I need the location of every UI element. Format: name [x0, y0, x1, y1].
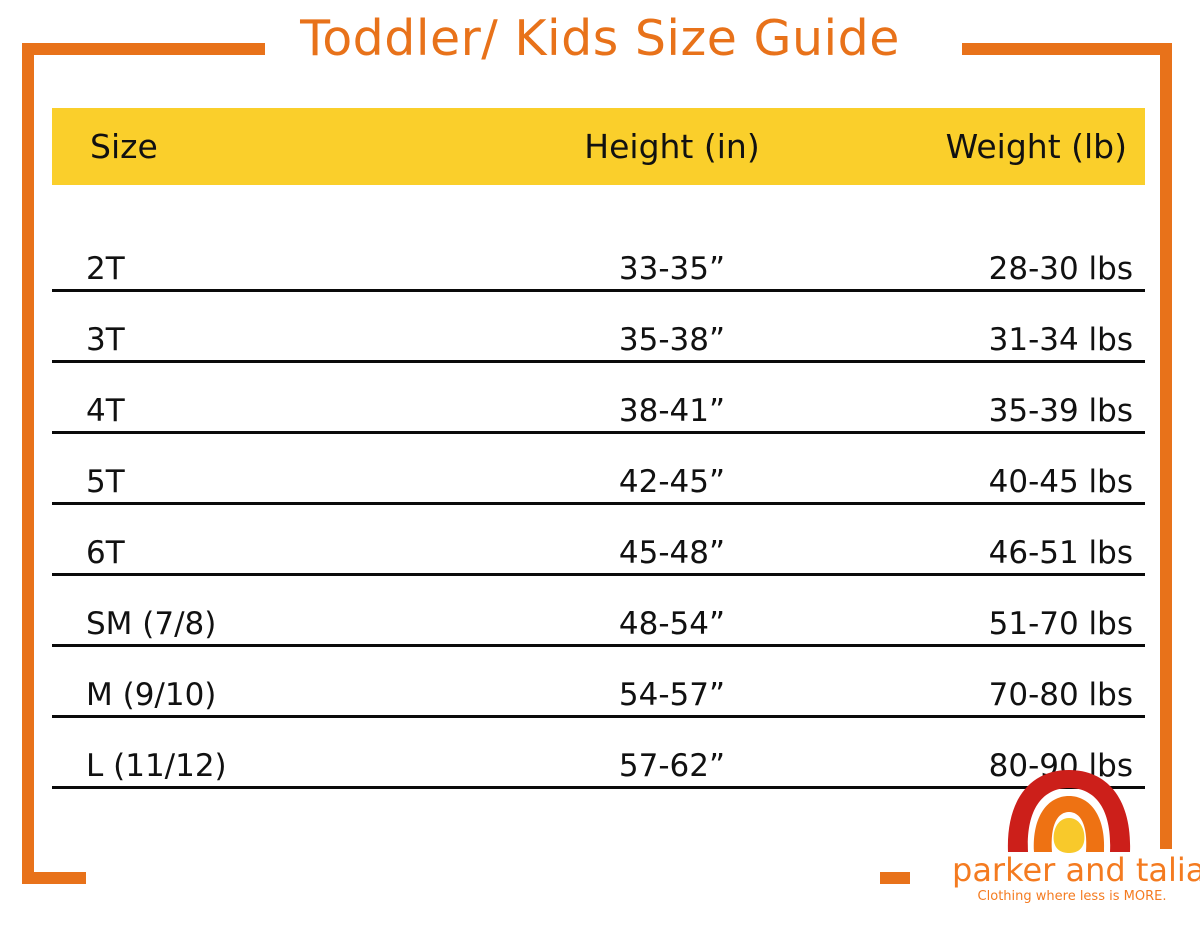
cell-height: 38-41”: [482, 393, 862, 431]
cell-size: 6T: [52, 535, 482, 573]
table-row: 5T 42-45” 40-45 lbs: [52, 434, 1145, 505]
size-guide-page: Toddler/ Kids Size Guide Size Height (in…: [0, 0, 1200, 927]
cell-weight: 70-80 lbs: [862, 677, 1145, 715]
frame-border-bottom: [22, 872, 86, 884]
cell-height: 48-54”: [482, 606, 862, 644]
cell-weight: 28-30 lbs: [862, 251, 1145, 289]
column-header-height: Height (in): [482, 127, 862, 166]
cell-height: 54-57”: [482, 677, 862, 715]
page-title: Toddler/ Kids Size Guide: [0, 14, 1200, 63]
frame-border-right: [1160, 43, 1172, 849]
cell-size: M (9/10): [52, 677, 482, 715]
cell-height: 35-38”: [482, 322, 862, 360]
cell-size: 5T: [52, 464, 482, 502]
cell-size: 3T: [52, 322, 482, 360]
cell-weight: 51-70 lbs: [862, 606, 1145, 644]
table-row: SM (7/8) 48-54” 51-70 lbs: [52, 576, 1145, 647]
frame-border-bottom-dash: [880, 872, 910, 884]
cell-weight: 46-51 lbs: [862, 535, 1145, 573]
cell-size: SM (7/8): [52, 606, 482, 644]
cell-weight: 31-34 lbs: [862, 322, 1145, 360]
size-table: Size Height (in) Weight (lb) 2T 33-35” 2…: [52, 108, 1145, 789]
brand-logo: parker and talia Clothing where less is …: [952, 762, 1192, 922]
cell-weight: 35-39 lbs: [862, 393, 1145, 431]
cell-height: 33-35”: [482, 251, 862, 289]
brand-tagline: Clothing where less is MORE.: [952, 890, 1192, 903]
table-header-row: Size Height (in) Weight (lb): [52, 108, 1145, 185]
table-row: 4T 38-41” 35-39 lbs: [52, 363, 1145, 434]
frame-border-left: [22, 43, 34, 884]
rainbow-arch-icon: [994, 762, 1144, 854]
cell-size: L (11/12): [52, 748, 482, 786]
cell-height: 57-62”: [482, 748, 862, 786]
cell-size: 2T: [52, 251, 482, 289]
column-header-size: Size: [52, 127, 482, 166]
table-row: 3T 35-38” 31-34 lbs: [52, 292, 1145, 363]
cell-height: 42-45”: [482, 464, 862, 502]
cell-weight: 40-45 lbs: [862, 464, 1145, 502]
table-body: 2T 33-35” 28-30 lbs 3T 35-38” 31-34 lbs …: [52, 221, 1145, 789]
table-row: 2T 33-35” 28-30 lbs: [52, 221, 1145, 292]
brand-name: parker and talia: [952, 854, 1192, 886]
table-row: M (9/10) 54-57” 70-80 lbs: [52, 647, 1145, 718]
cell-size: 4T: [52, 393, 482, 431]
column-header-weight: Weight (lb): [862, 127, 1145, 166]
table-row: 6T 45-48” 46-51 lbs: [52, 505, 1145, 576]
cell-height: 45-48”: [482, 535, 862, 573]
